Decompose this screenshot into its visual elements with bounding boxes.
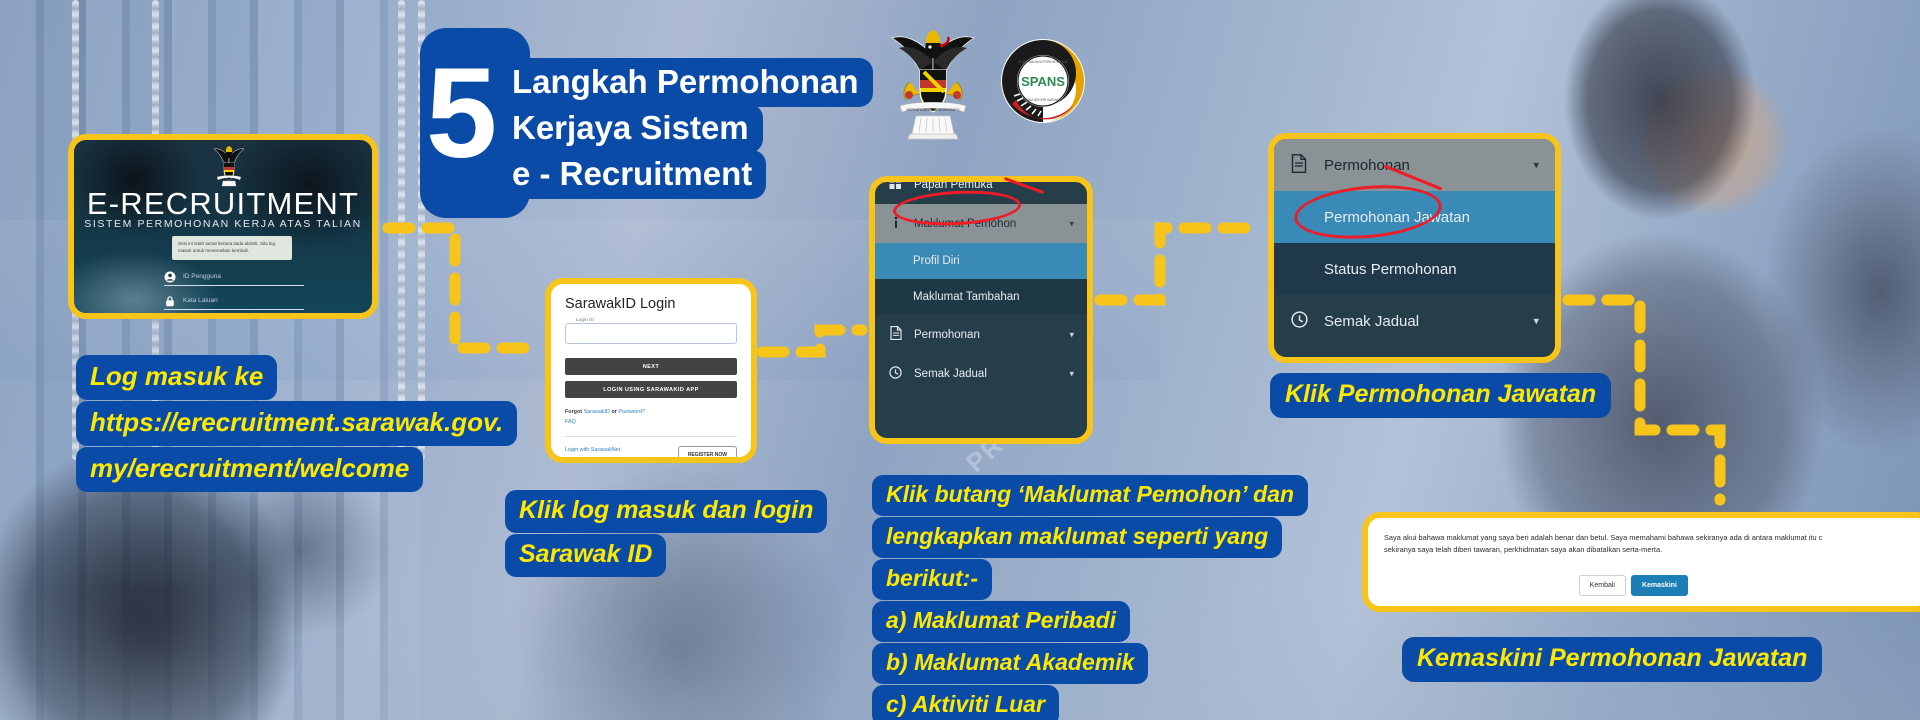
erecruitment-password-field[interactable]: Kata Laluan	[164, 292, 304, 310]
chevron-down-icon[interactable]: ▾	[1069, 218, 1074, 229]
erecruitment-password-label: Kata Laluan	[183, 297, 218, 304]
caption-line: berikut:-	[872, 559, 992, 600]
sidebar-label: Profil Diri	[913, 255, 960, 267]
title-number: 5	[426, 50, 493, 178]
caption-step-5: Kemaskini Permohonan Jawatan	[1402, 637, 1822, 682]
caption-line: a) Maklumat Peribadi	[872, 601, 1130, 642]
divider	[565, 436, 737, 437]
sidebar-label: Semak Jadual	[914, 368, 987, 380]
menu-item-semak-jadual[interactable]: Semak Jadual ▾	[1274, 295, 1555, 347]
kembali-button[interactable]: Kembali	[1579, 575, 1626, 596]
chevron-down-icon[interactable]: ▾	[1533, 159, 1539, 172]
sidebar-item-semak-jadual[interactable]: Semak Jadual ▾	[875, 354, 1087, 393]
sidebar-label: Permohonan	[914, 329, 980, 341]
svg-text:BERSATU BERUSAHA BERBAKTI: BERSATU BERUSAHA BERBAKTI	[907, 108, 960, 112]
menu-label: Semak Jadual	[1324, 313, 1419, 330]
lock-icon	[164, 295, 176, 307]
no-account-text: Don't have an account yet?	[565, 455, 630, 463]
user-icon	[164, 271, 176, 283]
menu-label: Status Permohonan	[1324, 261, 1457, 278]
sarawakid-footer: Login with SarawakNet Don't have an acco…	[565, 445, 737, 463]
sarawak-crest-small-icon	[213, 143, 245, 187]
faq-link[interactable]: FAQ	[565, 417, 737, 427]
caption-line: Log masuk ke	[76, 355, 277, 400]
chevron-down-icon[interactable]: ▾	[1069, 368, 1074, 379]
infographic-canvas: PROF 5 Langkah Permohonan Kerjaya Sistem…	[0, 0, 1920, 720]
caption-line: my/erecruitment/welcome	[76, 447, 423, 492]
login-id-input[interactable]	[565, 323, 737, 344]
sidebar-item-papan-pemuka[interactable]: Papan Pemuka	[875, 182, 1087, 204]
caption-line: b) Maklumat Akademik	[872, 643, 1148, 684]
declaration-text-line-2: sekiranya saya telah diberi tawaran, per…	[1384, 544, 1912, 556]
header-title-block: 5 Langkah Permohonan Kerjaya Sistem e - …	[420, 28, 910, 218]
declaration-text-line-1: Saya akui bahawa maklumat yang saya beri…	[1384, 532, 1912, 544]
dashboard-icon	[888, 182, 903, 193]
sidebar-item-maklumat-pemohon[interactable]: Maklumat Pemohon ▾	[875, 204, 1087, 243]
caption-step-2: Klik log masuk dan login Sarawak ID	[505, 490, 827, 578]
title-line-1: Langkah Permohonan	[498, 58, 873, 107]
login-sarawaknet-link[interactable]: Login with SarawakNet	[565, 445, 630, 455]
sidebar-label: Papan Pemuka	[914, 182, 993, 191]
spans-logo-icon: SPANS SURUHANJAYA PERKHIDMATAN AWAM NEGE…	[1000, 38, 1086, 124]
session-expired-alert: Sesi ini telah tamat kerana tiada aktivi…	[172, 236, 292, 260]
erecruitment-subtitle: SISTEM PERMOHONAN KERJA ATAS TALIAN	[74, 218, 372, 230]
caption-line: Klik log masuk dan login	[505, 490, 827, 533]
svg-text:SURUHANJAYA PERKHIDMATAN: SURUHANJAYA PERKHIDMATAN	[1019, 60, 1069, 64]
caption-step-1: Log masuk ke https://erecruitment.sarawa…	[76, 355, 517, 493]
sidebar-label: Maklumat Pemohon	[914, 218, 1016, 230]
applicant-info-menu-screenshot[interactable]: Papan Pemuka Maklumat Pemohon ▾ Profil D…	[869, 176, 1093, 444]
sidebar-item-maklumat-tambahan[interactable]: Maklumat Tambahan	[875, 279, 1087, 315]
caption-step-4: Klik Permohonan Jawatan	[1270, 373, 1611, 418]
forgot-sarawakid-link[interactable]: SarawakID	[584, 409, 610, 415]
document-icon	[1290, 154, 1308, 177]
clock-icon	[1290, 311, 1308, 332]
erecruitment-username-field[interactable]: ID Pengguna	[164, 268, 304, 286]
forgot-prefix: Forgot	[565, 409, 582, 415]
spans-logo-label: SPANS	[1021, 74, 1065, 89]
erecruitment-username-label: ID Pengguna	[183, 273, 221, 280]
forgot-password-link[interactable]: Password?	[618, 409, 645, 415]
sarawakid-help-links: Forgot SarawakID or Password? FAQ	[565, 407, 737, 427]
title-line-3: e - Recruitment	[498, 150, 766, 199]
next-button[interactable]: NEXT	[565, 358, 737, 375]
caption-line: Klik butang ‘Maklumat Pemohon’ dan	[872, 475, 1308, 516]
menu-item-status-permohonan[interactable]: Status Permohonan	[1274, 243, 1555, 295]
document-icon	[888, 326, 903, 343]
menu-label: Permohonan	[1324, 157, 1410, 174]
title-line-2: Kerjaya Sistem	[498, 104, 763, 153]
declaration-dialog-screenshot[interactable]: Saya akui bahawa maklumat yang saya beri…	[1362, 512, 1920, 612]
erecruitment-title: E-RECRUITMENT	[74, 186, 372, 222]
menu-label: Permohonan Jawatan	[1324, 209, 1470, 226]
sidebar-label: Maklumat Tambahan	[913, 291, 1020, 303]
info-icon	[888, 216, 903, 232]
menu-item-permohonan[interactable]: Permohonan ▾	[1274, 139, 1555, 191]
svg-text:AWAM NEGERI SARAWAK: AWAM NEGERI SARAWAK	[1023, 98, 1063, 102]
erecruitment-login-button[interactable]: Log Masuk	[164, 318, 304, 319]
caption-line: Sarawak ID	[505, 534, 666, 577]
register-now-button[interactable]: REGISTER NOW	[678, 446, 737, 463]
caption-line: https://erecruitment.sarawak.gov.	[76, 401, 517, 446]
menu-item-clip-wrapper: Papan Pemuka	[875, 182, 1087, 204]
sarawakid-title: SarawakID Login	[565, 296, 737, 312]
sarawakid-login-id-group: Login ID	[565, 323, 737, 344]
login-id-legend: Login ID	[573, 318, 597, 323]
chevron-down-icon[interactable]: ▾	[1069, 329, 1074, 340]
caption-step-3: Klik butang ‘Maklumat Pemohon’ dan lengk…	[872, 475, 1308, 720]
sarawakid-login-screenshot[interactable]: SarawakID Login Login ID NEXT LOGIN USIN…	[545, 278, 757, 463]
sarawak-state-crest-icon: BERSATU BERUSAHA BERBAKTI	[890, 22, 976, 140]
chevron-down-icon[interactable]: ▾	[1533, 315, 1539, 328]
clock-icon	[888, 366, 903, 382]
kemaskini-button[interactable]: Kemaskini	[1631, 575, 1688, 596]
login-using-app-button[interactable]: LOGIN USING SARAWAKID APP	[565, 381, 737, 398]
declaration-buttons: Kembali Kemaskini	[1579, 575, 1688, 596]
erecruitment-login-screenshot[interactable]: E-RECRUITMENT SISTEM PERMOHONAN KERJA AT…	[68, 134, 378, 319]
forgot-or: or	[611, 409, 616, 415]
forgot-line: Forgot SarawakID or Password?	[565, 407, 737, 417]
caption-line: c) Aktiviti Luar	[872, 685, 1059, 720]
sidebar-item-permohonan[interactable]: Permohonan ▾	[875, 315, 1087, 354]
sarawakid-footer-text: Login with SarawakNet Don't have an acco…	[565, 445, 630, 463]
menu-item-permohonan-jawatan[interactable]: Permohonan Jawatan	[1274, 191, 1555, 243]
caption-line: lengkapkan maklumat seperti yang	[872, 517, 1282, 558]
permohonan-menu-screenshot[interactable]: Permohonan ▾ Permohonan Jawatan Status P…	[1268, 133, 1561, 363]
sidebar-item-profil-diri[interactable]: Profil Diri	[875, 243, 1087, 279]
